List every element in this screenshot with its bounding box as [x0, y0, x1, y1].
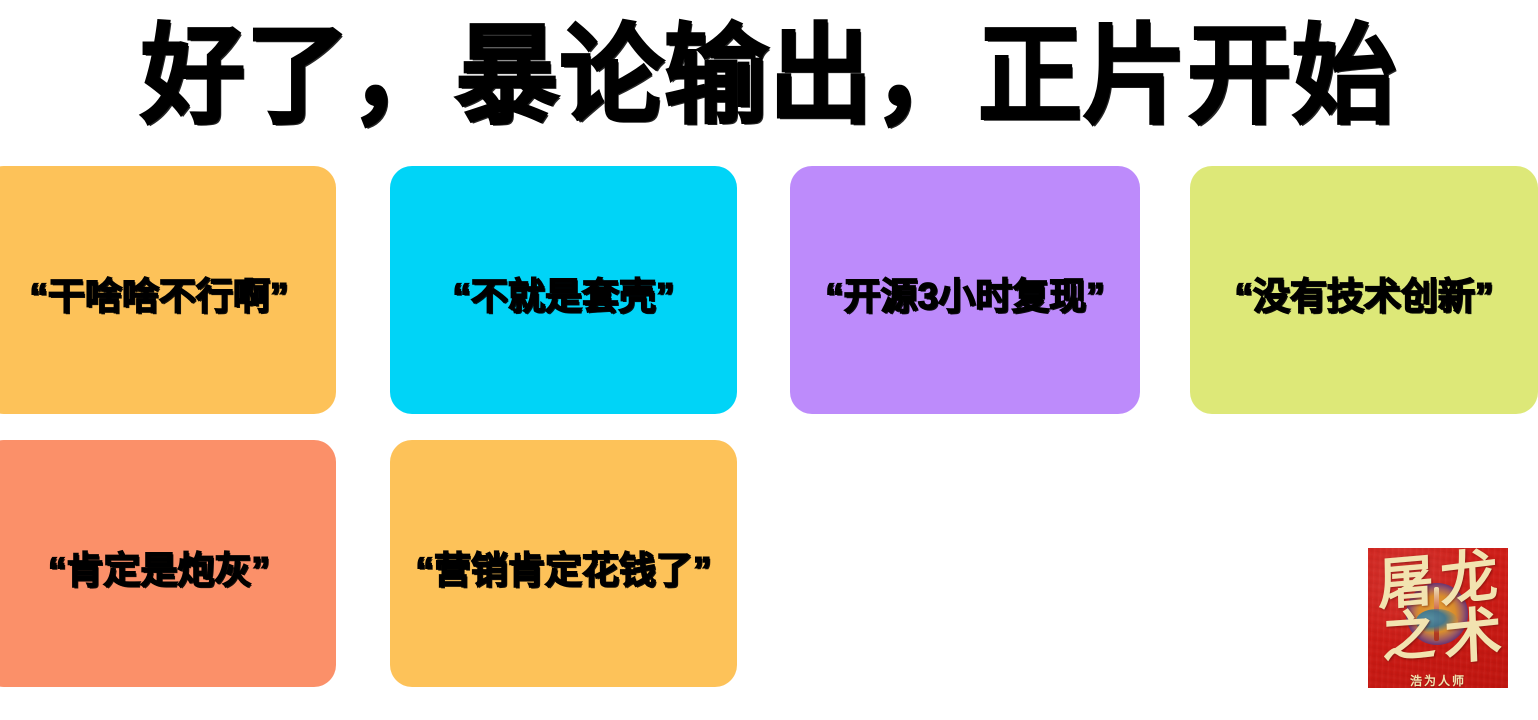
- quote-card-label: “没有技术创新”: [1190, 266, 1538, 320]
- logo-character: 之: [1382, 608, 1437, 666]
- quote-card[interactable]: “没有技术创新”: [1190, 166, 1538, 414]
- page-title: 好了，暴论输出，正片开始: [31, 6, 1507, 146]
- logo-character: 术: [1443, 605, 1503, 669]
- quote-card[interactable]: “营销肯定花钱了”: [390, 440, 737, 687]
- slide-canvas: 好了，暴论输出，正片开始 “干啥啥不行啊” “不就是套壳” “开源3小时复现” …: [0, 0, 1538, 720]
- logo-tagline: 浩为人师: [1368, 672, 1508, 688]
- quote-card-label: “不就是套壳”: [390, 266, 737, 320]
- quote-card[interactable]: “不就是套壳”: [390, 166, 737, 414]
- quote-card-label: “营销肯定花钱了”: [390, 540, 737, 594]
- quote-card-label: “开源3小时复现”: [790, 266, 1140, 320]
- quote-card-label: “干啥啥不行啊”: [0, 266, 336, 320]
- brand-logo: 屠 龙 之 术 浩为人师: [1368, 548, 1508, 688]
- quote-card[interactable]: “干啥啥不行啊”: [0, 166, 336, 414]
- quote-card[interactable]: “开源3小时复现”: [790, 166, 1140, 414]
- quote-card[interactable]: “肯定是炮灰”: [0, 440, 336, 687]
- quote-card-label: “肯定是炮灰”: [0, 540, 336, 594]
